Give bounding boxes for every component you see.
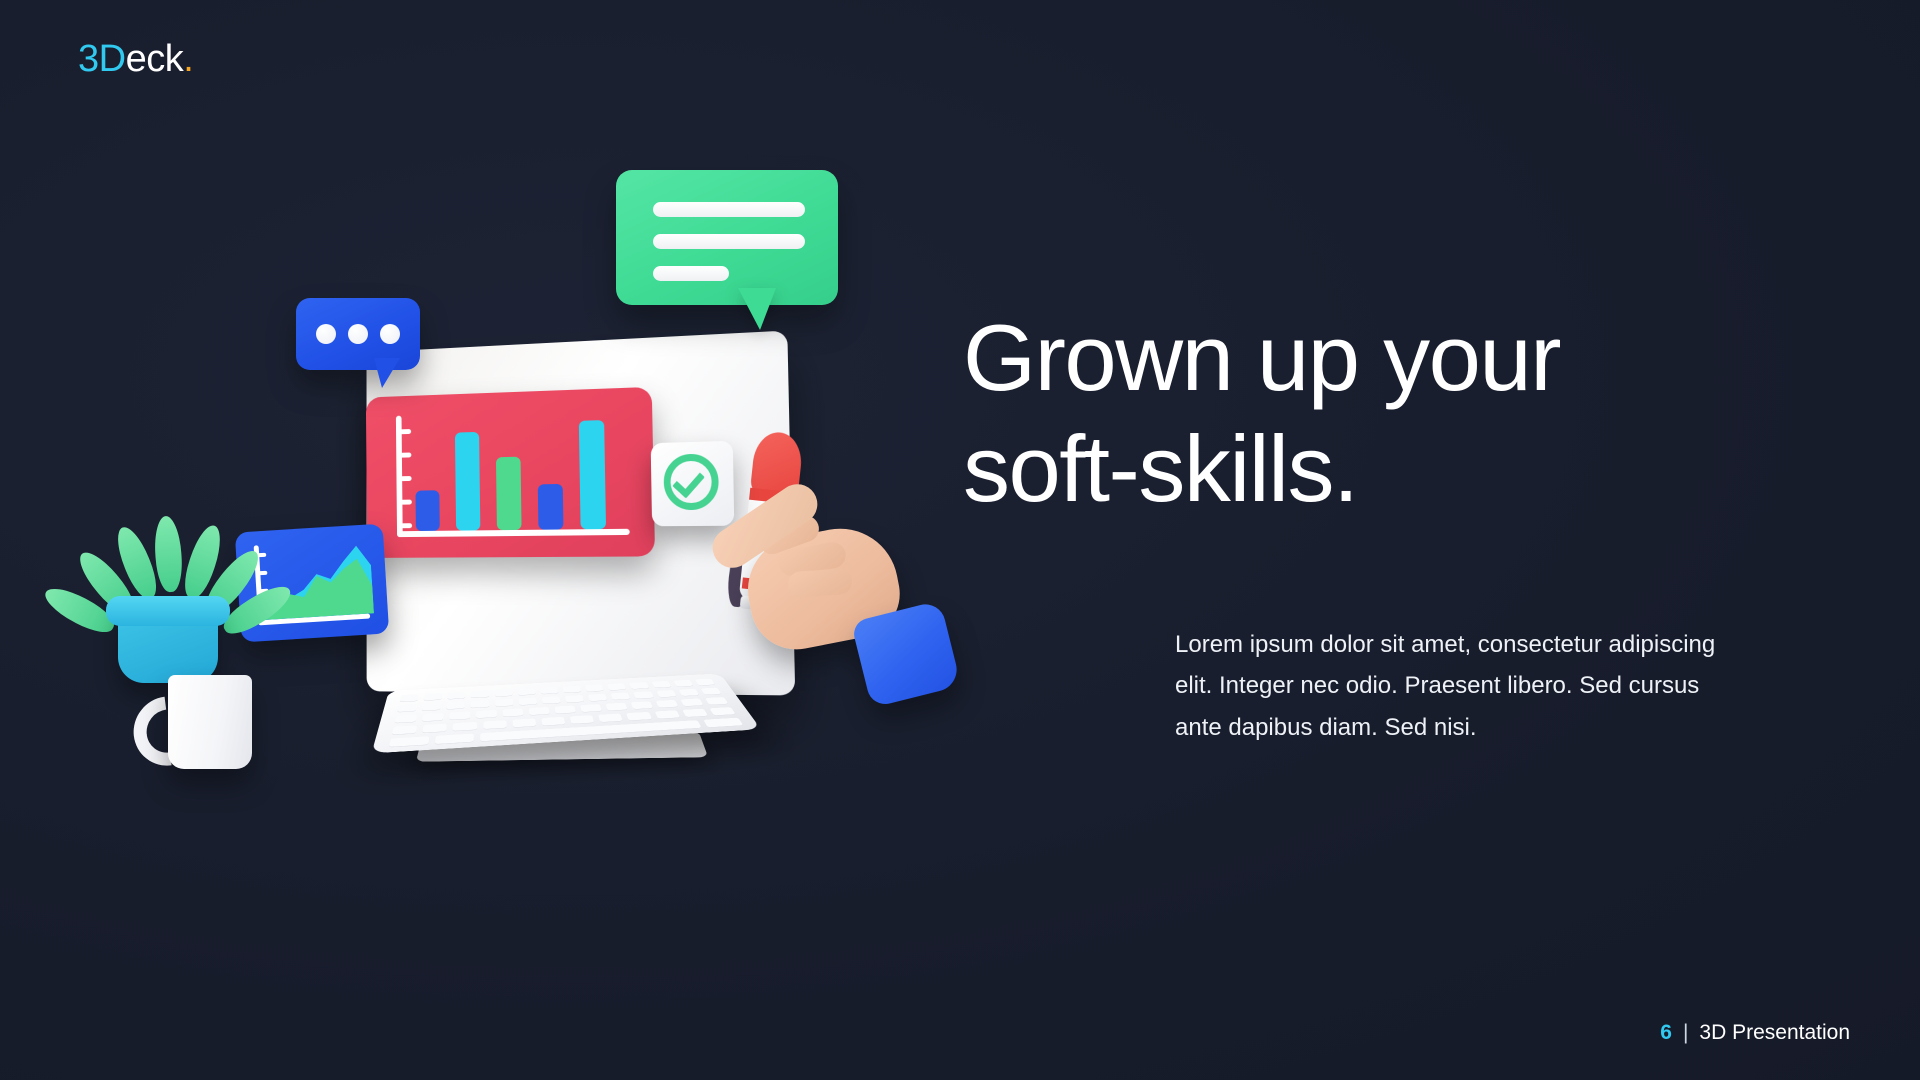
keyboard-key <box>495 699 513 707</box>
logo-text-primary: 3D <box>78 38 126 80</box>
keyboard-key <box>607 683 626 690</box>
hand-knuckle <box>787 568 853 598</box>
pointing-hand <box>700 460 950 730</box>
keyboard-key <box>446 701 465 709</box>
keyboard-key <box>565 695 584 703</box>
keyboard-key <box>626 712 652 721</box>
bar-1 <box>416 490 440 531</box>
message-line <box>653 202 805 217</box>
keyboard-key <box>435 734 474 745</box>
keyboard-key <box>598 713 623 722</box>
keyboard-key <box>422 703 441 711</box>
bar-chart-panel <box>366 387 655 558</box>
page-title: Grown up your soft-skills. <box>963 303 1723 525</box>
keyboard-key <box>541 717 565 726</box>
keyboard-key <box>476 710 497 719</box>
headline-line-2: soft-skills. <box>963 414 1723 525</box>
keyboard-key <box>580 704 602 713</box>
keyboard-key <box>483 720 507 729</box>
bar-chart-bars <box>415 408 630 531</box>
keyboard-key <box>422 724 447 734</box>
keyboard-key <box>503 708 524 717</box>
keyboard-key <box>651 681 671 688</box>
hero-illustration <box>60 130 1120 940</box>
page-number: 6 <box>1660 1021 1672 1045</box>
keyboard-key <box>678 689 699 697</box>
bar-2 <box>455 432 480 530</box>
bar-4 <box>538 484 564 530</box>
keyboard-key <box>494 689 512 697</box>
keyboard-key <box>471 700 489 708</box>
keyboard-key <box>422 713 444 722</box>
message-line <box>653 234 805 249</box>
keyboard-key <box>397 704 417 712</box>
keyboard-key <box>542 696 561 704</box>
keyboard-key <box>512 718 536 727</box>
y-axis-tick <box>400 453 411 458</box>
y-axis-tick <box>400 500 411 505</box>
typing-bubble <box>296 298 420 370</box>
message-bubble <box>616 170 838 305</box>
leaf-icon <box>153 515 184 593</box>
keyboard-key <box>540 687 558 695</box>
keyboard-key <box>554 705 576 714</box>
keyboard-key <box>654 710 680 719</box>
keyboard-key <box>449 711 470 720</box>
keyboard-key <box>389 736 429 747</box>
typing-dot-icon <box>316 324 336 344</box>
keyboard-key <box>529 707 550 716</box>
keyboard-key <box>517 688 535 696</box>
brand-logo: 3Deck. <box>78 40 193 78</box>
headline-line-1: Grown up your <box>963 303 1723 414</box>
keyboard-key <box>453 722 477 732</box>
keyboard-key <box>656 700 679 708</box>
typing-dot-icon <box>348 324 368 344</box>
keyboard-key <box>631 701 654 709</box>
logo-text-secondary: eck <box>126 38 184 80</box>
keyboard-key <box>570 715 595 724</box>
keyboard-key <box>447 692 465 700</box>
message-line <box>653 266 729 281</box>
bar-5 <box>579 420 606 530</box>
y-axis-tick <box>401 523 412 528</box>
slide-footer: 6 | 3D Presentation <box>1660 1021 1850 1045</box>
keyboard-key <box>471 690 489 698</box>
typing-dot-icon <box>380 324 400 344</box>
keyboard-key <box>424 693 443 701</box>
keyboard-key <box>633 691 653 699</box>
keyboard-key <box>518 698 537 706</box>
presentation-title: 3D Presentation <box>1699 1021 1850 1045</box>
keyboard-key <box>611 692 631 700</box>
keyboard-key <box>400 694 419 702</box>
logo-dot: . <box>183 38 193 80</box>
keyboard-key <box>656 690 677 698</box>
keyboard-key <box>673 680 693 687</box>
slide-canvas: 3Deck. <box>0 0 1920 1080</box>
coffee-mug <box>168 675 252 769</box>
keyboard-key <box>585 684 604 692</box>
keyboard-key <box>563 686 582 694</box>
body-paragraph: Lorem ipsum dolor sit amet, consectetur … <box>1175 624 1720 748</box>
keyboard-key <box>605 703 627 711</box>
y-axis-tick <box>400 476 411 481</box>
y-axis-tick <box>400 429 411 434</box>
keyboard-key <box>392 725 418 735</box>
footer-separator: | <box>1683 1021 1688 1045</box>
keyboard-key <box>629 682 649 689</box>
bar-3 <box>496 457 522 530</box>
keyboard-key <box>588 694 608 702</box>
plant-pot-rim <box>106 596 230 626</box>
keyboard-key <box>394 714 417 723</box>
